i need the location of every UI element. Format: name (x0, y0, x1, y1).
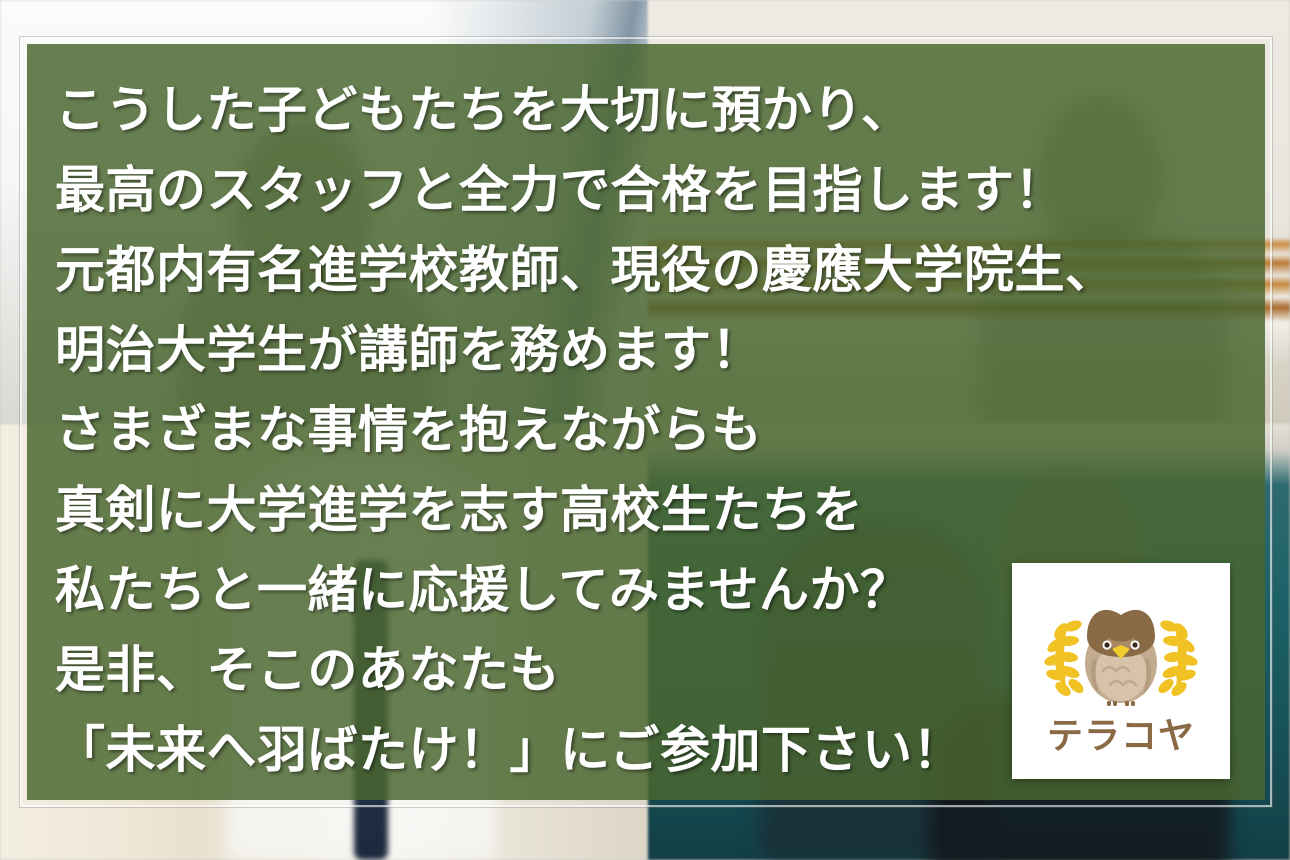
message-line: 最高のスタッフと全力で合格を目指します！ (55, 150, 1257, 230)
message-line: こうした子どもたちを大切に預かり、 (55, 70, 1257, 150)
message-line: さまざまな事情を抱えながらも (55, 390, 1257, 470)
poster-canvas: こうした子どもたちを大切に預かり、 最高のスタッフと全力で合格を目指します！ 元… (0, 0, 1290, 860)
message-line: 明治大学生が講師を務めます！ (55, 310, 1257, 390)
brand-wordmark: テラコヤ (1047, 719, 1195, 755)
owl-laurel-icon (1037, 587, 1205, 715)
message-line: 元都内有名進学校教師、現役の慶應大学院生、 (55, 230, 1257, 310)
message-line: 真剣に大学進学を志す高校生たちを (55, 470, 1257, 550)
brand-logo-card: テラコヤ (1012, 563, 1230, 779)
